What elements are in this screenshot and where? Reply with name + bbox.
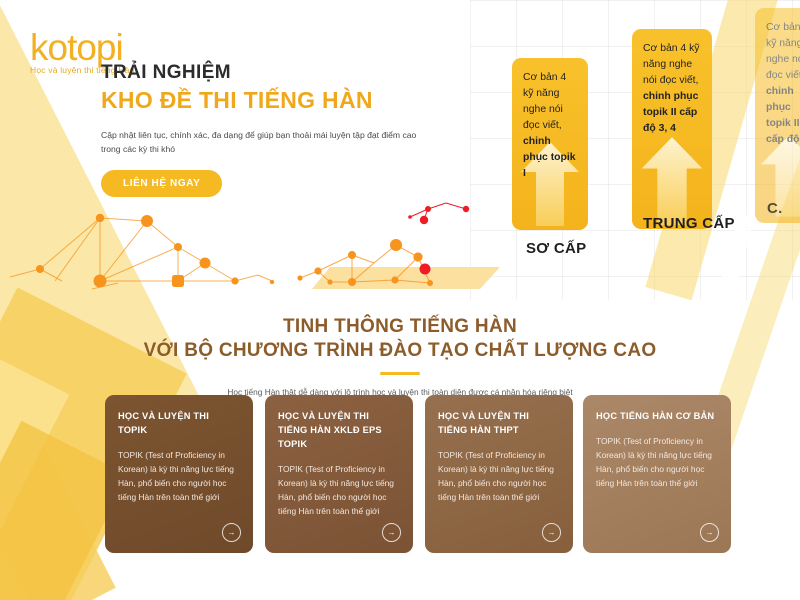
feature-card-body: TOPIK (Test of Proficiency in Korean) là… <box>118 448 240 504</box>
contact-now-button[interactable]: LIÊN HỆ NGAY <box>101 170 222 197</box>
level-card-text: Cơ bản 4 kỹ năng nghe nói đọc viết, chin… <box>512 58 588 182</box>
section-header: TINH THÔNG TIẾNG HÀN VỚI BỘ CHƯƠNG TRÌNH… <box>0 315 800 397</box>
hero-kicker: TRẢI NGHIỆM <box>101 62 441 84</box>
level-card-trung-cap[interactable]: Cơ bản 4 kỹ năng nghe nói đọc viết, chin… <box>632 29 712 229</box>
level-label-so-cap: SƠ CẤP <box>526 240 586 257</box>
feature-card[interactable]: HỌC VÀ LUYỆN THI TIẾNG HÀN THPT TOPIK (T… <box>425 395 573 553</box>
feature-card[interactable]: HỌC VÀ LUYỆN THI TIẾNG HÀN XKLĐ EPS TOPI… <box>265 395 413 553</box>
feature-card-title: HỌC VÀ LUYỆN THI TIẾNG HÀN XKLĐ EPS TOPI… <box>278 409 400 451</box>
section-heading: TINH THÔNG TIẾNG HÀN VỚI BỘ CHƯƠNG TRÌNH… <box>0 315 800 363</box>
level-label-trung-cap: TRUNG CẤP <box>643 215 735 232</box>
feature-card-title: HỌC VÀ LUYỆN THI TOPIK <box>118 409 240 437</box>
network-graph-illustration <box>0 185 520 305</box>
up-arrow-icon <box>639 135 705 225</box>
level-card-cao-cap[interactable]: Cơ bản 4 kỹ năng nghe nói đọc viết, chin… <box>755 8 800 223</box>
level-card-so-cap[interactable]: Cơ bản 4 kỹ năng nghe nói đọc viết, chin… <box>512 58 588 230</box>
level-text-plain: Cơ bản 4 kỹ năng nghe nói đọc viết, <box>523 72 566 131</box>
level-text-plain: Cơ bản 4 kỹ năng nghe nói đọc viết, <box>766 22 800 81</box>
feature-card-body: TOPIK (Test of Proficiency in Korean) là… <box>438 448 560 504</box>
level-text-bold: chinh phục topik I <box>523 136 576 179</box>
feature-card[interactable]: HỌC VÀ LUYỆN THI TOPIK TOPIK (Test of Pr… <box>105 395 253 553</box>
feature-card-list: HỌC VÀ LUYỆN THI TOPIK TOPIK (Test of Pr… <box>105 395 715 555</box>
level-text-bold: chinh phục topik II cấp độ <box>766 86 800 145</box>
feature-card[interactable]: HỌC TIẾNG HÀN CƠ BẢN TOPIK (Test of Prof… <box>583 395 731 553</box>
level-text-plain: Cơ bản 4 kỹ năng nghe nói đọc viết, <box>643 43 699 86</box>
heading-divider <box>380 372 420 375</box>
feature-card-body: TOPIK (Test of Proficiency in Korean) là… <box>596 434 718 490</box>
hero-subtitle: Cập nhật liên tục, chính xác, đa dạng để… <box>101 128 421 156</box>
level-card-text: Cơ bản 4 kỹ năng nghe nói đọc viết, chin… <box>755 8 800 148</box>
page-title: KHO ĐỀ THI TIẾNG HÀN <box>101 87 441 114</box>
section-heading-line2: VỚI BỘ CHƯƠNG TRÌNH ĐÀO TẠO CHẤT LƯỢNG C… <box>144 340 657 361</box>
arrow-right-icon[interactable]: → <box>382 523 401 542</box>
feature-card-title: HỌC VÀ LUYỆN THI TIẾNG HÀN THPT <box>438 409 560 437</box>
section-heading-line1: TINH THÔNG TIẾNG HÀN <box>283 316 517 337</box>
level-text-bold: chinh phục topik II cấp độ 3, 4 <box>643 91 698 134</box>
level-label-cao-cap: C. <box>767 200 783 217</box>
arrow-right-icon[interactable]: → <box>700 523 719 542</box>
level-card-text: Cơ bản 4 kỹ năng nghe nói đọc viết, chin… <box>632 29 712 137</box>
arrow-right-icon[interactable]: → <box>222 523 241 542</box>
arrow-right-icon[interactable]: → <box>542 523 561 542</box>
feature-card-title: HỌC TIẾNG HÀN CƠ BẢN <box>596 409 718 423</box>
feature-card-body: TOPIK (Test of Proficiency in Korean) là… <box>278 462 400 518</box>
hero-block: TRẢI NGHIỆM KHO ĐỀ THI TIẾNG HÀN Cập nhậ… <box>101 62 441 197</box>
page-root: kotopi Học và luyện thi tiếng Hàn TRẢI N… <box>0 0 800 600</box>
